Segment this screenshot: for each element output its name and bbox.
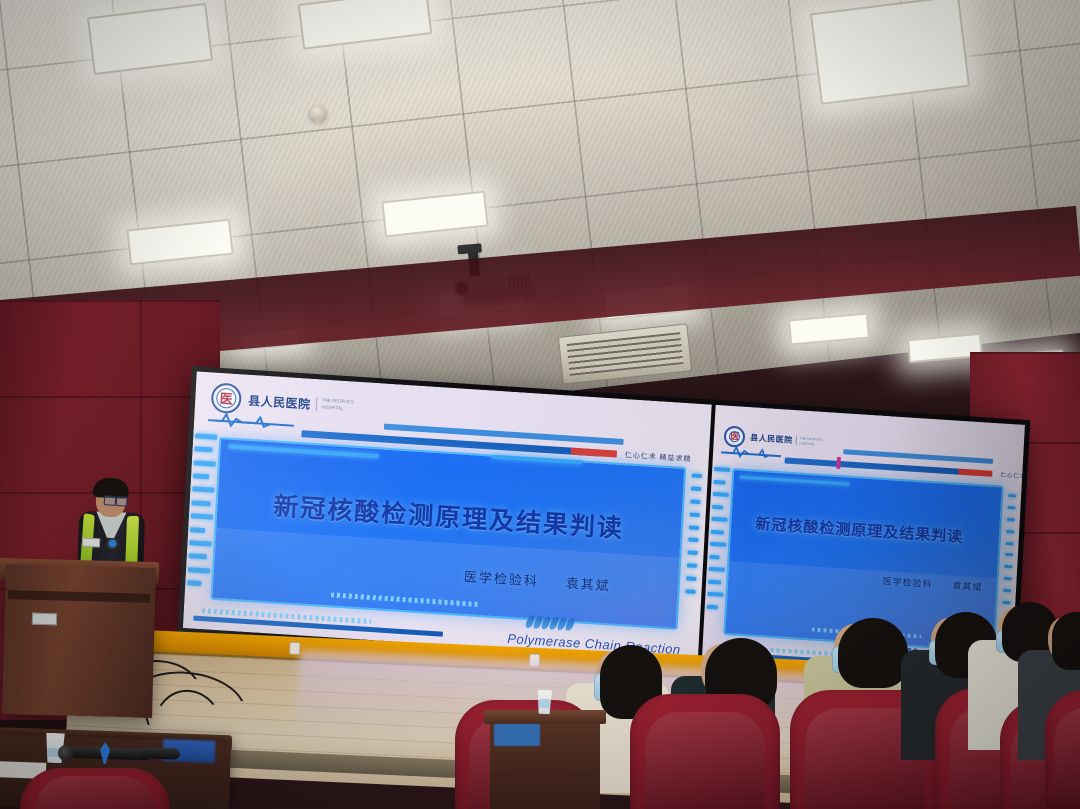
conference-hall-photo: 医 县人民医院 THE PEOPLE'S HOSPITAL 仁心仁术 精益求精 xyxy=(0,0,1080,809)
hospital-emblem-icon: 医 xyxy=(211,382,243,414)
attendee-2-seat xyxy=(630,694,780,809)
hospital-name-en: THE PEOPLE'S HOSPITAL xyxy=(315,397,374,414)
box-dotline-bottom xyxy=(331,592,481,607)
foreground-seat xyxy=(20,768,170,809)
header-marker-pink xyxy=(837,457,842,469)
wooden-podium xyxy=(2,564,156,718)
ecg-spike-icon-secondary xyxy=(725,445,770,461)
logo-glyph: 医 xyxy=(219,391,233,405)
table-microphone-2 xyxy=(140,747,180,759)
hospital-motto-secondary: 仁心仁术 精益求精 xyxy=(1000,470,1025,481)
slide-presenter-secondary: 袁其斌 xyxy=(952,579,983,594)
hospital-name-en-secondary: THE PEOPLE'S HOSPITAL xyxy=(795,436,835,448)
ecg-spike-icon xyxy=(212,410,273,430)
hospital-name-secondary: 县人民医院 xyxy=(750,432,793,446)
slide-presenter: 袁其斌 xyxy=(565,573,611,595)
header-bar-light-secondary xyxy=(843,449,993,464)
attendee-6-hair xyxy=(1052,612,1080,670)
speaker-id-badge xyxy=(82,538,100,548)
attendee-3-hair xyxy=(838,618,908,688)
frame-teeth-right xyxy=(686,473,702,593)
attendee-6-seat xyxy=(1045,690,1080,809)
slide-panel-primary: 医 县人民医院 THE PEOPLE'S HOSPITAL 仁心仁术 精益求精 xyxy=(183,371,712,661)
smoke-detector-icon xyxy=(310,105,326,121)
dna-helix-icon xyxy=(527,615,575,631)
tablet-screen xyxy=(494,724,540,746)
hospital-motto: 仁心仁术 精益求精 xyxy=(625,450,692,464)
glasses-icon xyxy=(104,495,128,505)
speaker-lapel-pin xyxy=(109,540,116,547)
box-notch-top xyxy=(229,445,379,459)
box-notch-top-secondary xyxy=(740,476,850,486)
podium-label xyxy=(32,613,57,626)
header-bar-red xyxy=(571,448,617,458)
frame-teeth-right-secondary xyxy=(1002,494,1016,604)
hospital-name: 县人民医院 xyxy=(248,391,311,412)
logo-glyph-secondary: 医 xyxy=(730,432,739,442)
header-bar-red-secondary xyxy=(958,469,992,477)
ceiling-light-panel-3 xyxy=(810,0,970,105)
